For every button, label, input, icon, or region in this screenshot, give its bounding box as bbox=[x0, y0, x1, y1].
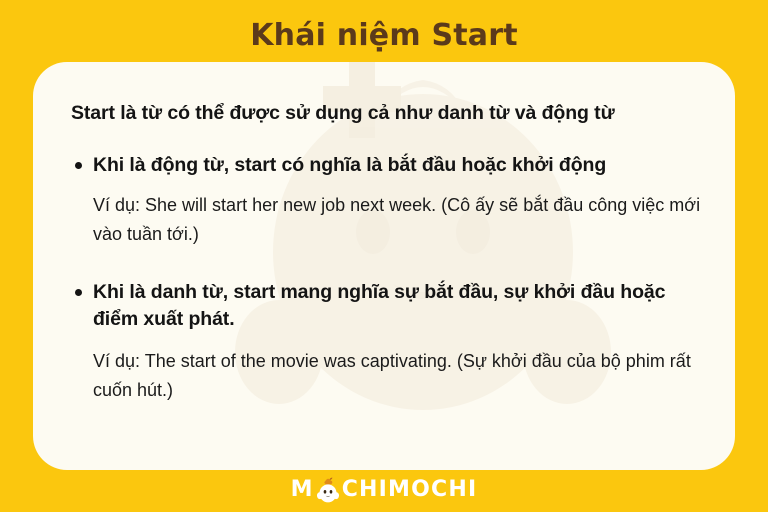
bullet-text-noun: Khi là danh từ, start mang nghĩa sự bắt … bbox=[93, 279, 701, 333]
bullet-dot-icon bbox=[75, 289, 82, 296]
bullet-text-verb: Khi là động từ, start có nghĩa là bắt đầ… bbox=[93, 152, 606, 179]
logo-text-prefix: M bbox=[291, 477, 314, 503]
mochi-mascot-icon bbox=[315, 476, 341, 504]
bullet-dot-icon bbox=[75, 162, 82, 169]
footer-logo: M CHIMOCHI bbox=[0, 476, 768, 504]
logo-text-suffix: CHIMOCHI bbox=[342, 477, 478, 503]
definition-group-noun: Khi là danh từ, start mang nghĩa sự bắt … bbox=[71, 279, 701, 405]
lead-statement: Start là từ có thể được sử dụng cả như d… bbox=[71, 100, 701, 126]
list-item: Khi là danh từ, start mang nghĩa sự bắt … bbox=[71, 279, 701, 333]
example-text-verb: Ví dụ: She will start her new job next w… bbox=[93, 191, 701, 249]
list-item: Khi là động từ, start có nghĩa là bắt đầ… bbox=[71, 152, 701, 179]
slide-root: Khái niệm Start Start là từ bbox=[0, 0, 768, 512]
page-title: Khái niệm Start bbox=[0, 18, 768, 54]
definition-group-verb: Khi là động từ, start có nghĩa là bắt đầ… bbox=[71, 152, 701, 249]
content-card: Start là từ có thể được sử dụng cả như d… bbox=[33, 62, 735, 470]
example-text-noun: Ví dụ: The start of the movie was captiv… bbox=[93, 347, 701, 405]
card-content: Start là từ có thể được sử dụng cả như d… bbox=[33, 62, 735, 405]
